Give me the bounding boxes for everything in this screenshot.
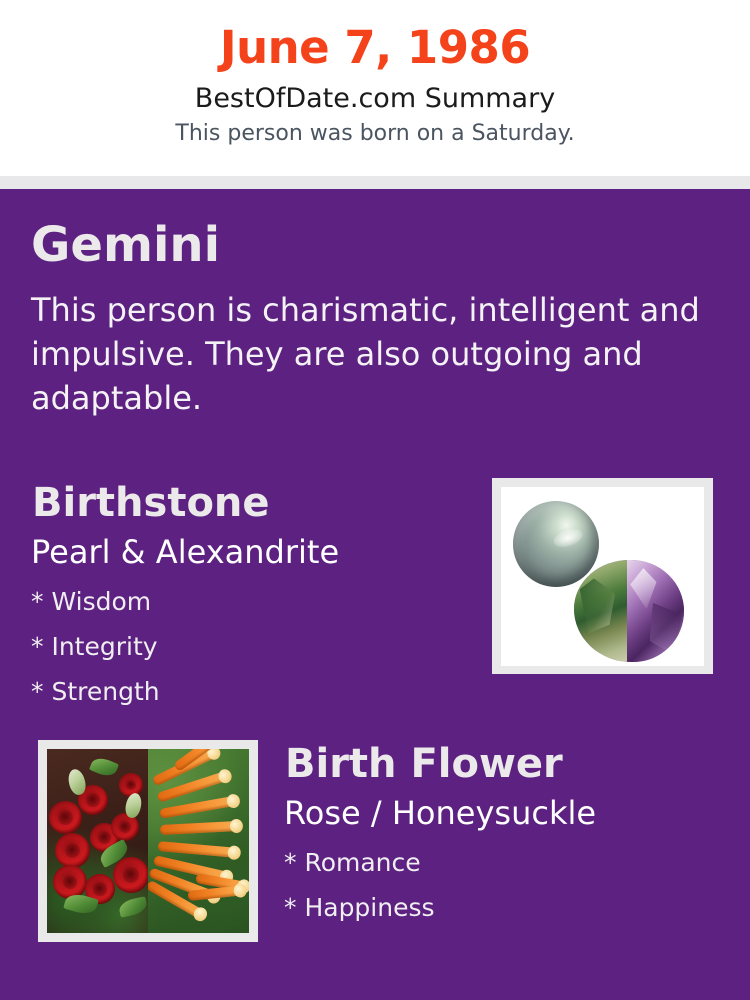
birth-flower-names: Rose / Honeysuckle [284,793,596,833]
zodiac-sign-title: Gemini [31,217,220,273]
birthstone-heading: Birthstone [32,479,270,527]
honeysuckle-flower-icon [158,841,239,858]
pearl-and-alexandrite-photo [501,487,704,666]
rose-and-honeysuckle-photo [47,749,249,933]
header: June 7, 1986 BestOfDate.com Summary This… [0,0,750,176]
birth-flower-heading: Birth Flower [285,740,563,788]
list-item: * Strength [31,669,160,714]
alexandrite-rough-half [574,560,631,662]
site-name: BestOfDate.com Summary [0,76,750,116]
leaf-icon [89,755,119,780]
content-panel: Gemini This person is charismatic, intel… [0,189,750,1000]
page-title-date: June 7, 1986 [0,0,750,76]
birthstone-photo-frame [492,478,713,674]
roses-photo-half [47,749,148,933]
weekday-note: This person was born on a Saturday. [0,116,750,149]
honeysuckle-photo-half [148,749,249,933]
list-item: * Integrity [31,624,160,669]
birth-flower-trait-list: * Romance * Happiness [284,840,435,930]
list-item: * Romance [284,840,435,885]
rose-icon [55,833,90,868]
leaf-icon [118,896,148,917]
rose-icon [49,801,82,834]
list-item: * Happiness [284,885,435,930]
birthstone-trait-list: * Wisdom * Integrity * Strength [31,579,160,714]
rose-icon [53,865,87,899]
birth-flower-photo-frame [38,740,258,942]
list-item: * Wisdom [31,579,160,624]
birthstone-names: Pearl & Alexandrite [31,532,339,572]
honeysuckle-flower-icon [160,821,240,835]
rose-icon [113,857,148,893]
header-divider [0,176,750,189]
summary-card: June 7, 1986 BestOfDate.com Summary This… [0,0,750,1000]
zodiac-description: This person is charismatic, intelligent … [31,288,711,420]
alexandrite-gem-icon [574,560,684,662]
alexandrite-faceted-half [627,560,684,662]
